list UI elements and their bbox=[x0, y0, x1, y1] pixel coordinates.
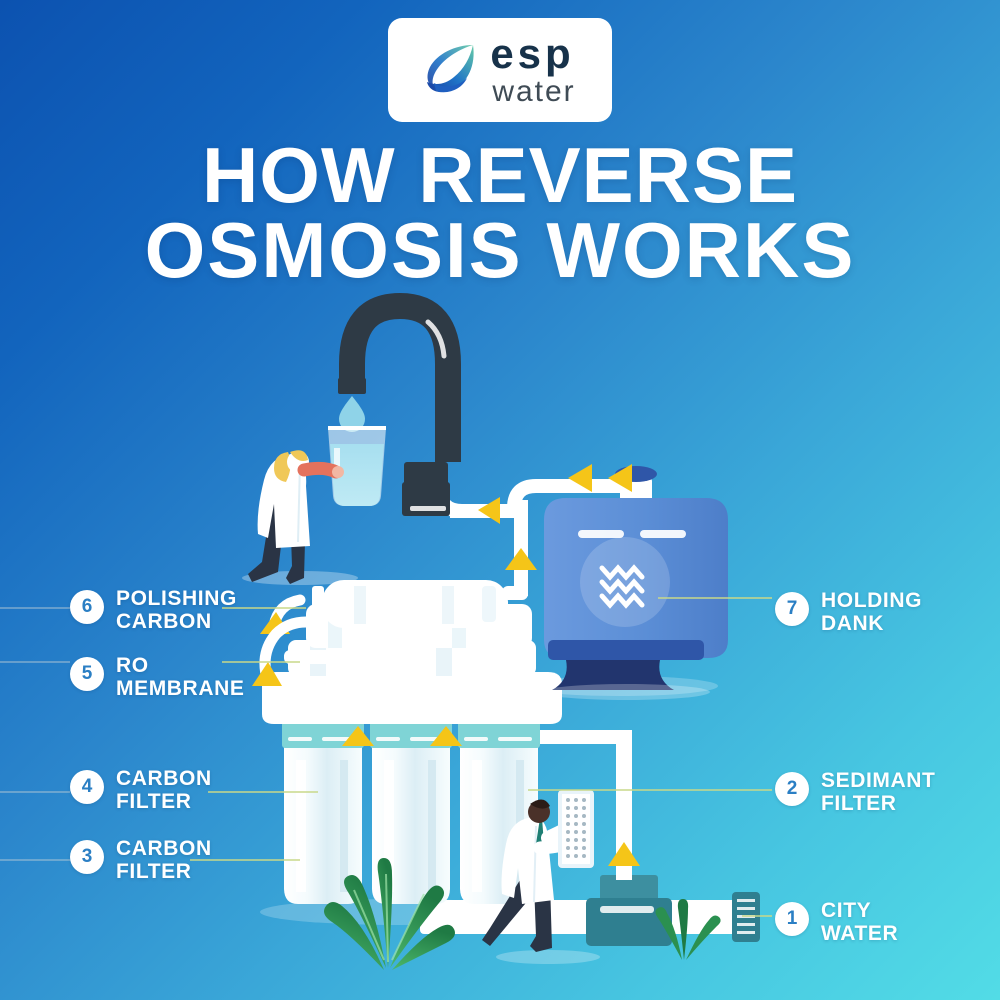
callout-city-water[interactable]: 1 CITY WATER bbox=[775, 900, 898, 945]
callout-label-6: POLISHING CARBON bbox=[116, 588, 237, 633]
callout-label-2: SEDIMANT FILTER bbox=[821, 770, 935, 815]
pressure-tank-icon bbox=[542, 466, 728, 700]
callout-badge-1: 1 bbox=[775, 902, 809, 936]
callout-holding-tank[interactable]: 7 HOLDING DANK bbox=[775, 590, 922, 635]
callout-badge-4: 4 bbox=[70, 770, 104, 804]
water-waves-icon bbox=[602, 568, 642, 605]
callout-badge-5: 5 bbox=[70, 657, 104, 691]
flow-direction-arrow-icon bbox=[478, 497, 500, 524]
filter-housing-group bbox=[284, 742, 538, 904]
floor-shadow bbox=[496, 950, 600, 964]
sediment-filter-cartridge-icon bbox=[558, 790, 594, 868]
callout-badge-6: 6 bbox=[70, 590, 104, 624]
woman-in-lab-coat-icon bbox=[248, 450, 344, 584]
callout-label-7: HOLDING DANK bbox=[821, 590, 922, 635]
callout-carbon-filter-4[interactable]: 4 CARBON FILTER bbox=[70, 768, 212, 813]
flow-direction-arrow-icon bbox=[505, 548, 537, 570]
callout-label-5: RO MEMBRANE bbox=[116, 655, 244, 700]
callout-sediment-filter[interactable]: 2 SEDIMANT FILTER bbox=[775, 770, 935, 815]
callout-leader-lines bbox=[0, 608, 70, 860]
tank-badge-circle bbox=[580, 537, 670, 627]
callout-ro-membrane[interactable]: 5 RO MEMBRANE bbox=[70, 655, 244, 700]
callout-badge-3: 3 bbox=[70, 840, 104, 874]
callout-badge-7: 7 bbox=[775, 592, 809, 626]
infographic-poster: esp water HOW REVERSE OSMOSIS WORKS bbox=[0, 0, 1000, 1000]
callout-badge-2: 2 bbox=[775, 772, 809, 806]
callout-label-1: CITY WATER bbox=[821, 900, 898, 945]
callout-polishing-carbon[interactable]: 6 POLISHING CARBON bbox=[70, 588, 237, 633]
inline-carbon-cartridge-icon bbox=[312, 580, 528, 628]
flow-direction-arrow-icon bbox=[608, 842, 640, 866]
callout-carbon-filter-3[interactable]: 3 CARBON FILTER bbox=[70, 838, 212, 883]
callout-label-3: CARBON FILTER bbox=[116, 838, 212, 883]
callout-label-4: CARBON FILTER bbox=[116, 768, 212, 813]
